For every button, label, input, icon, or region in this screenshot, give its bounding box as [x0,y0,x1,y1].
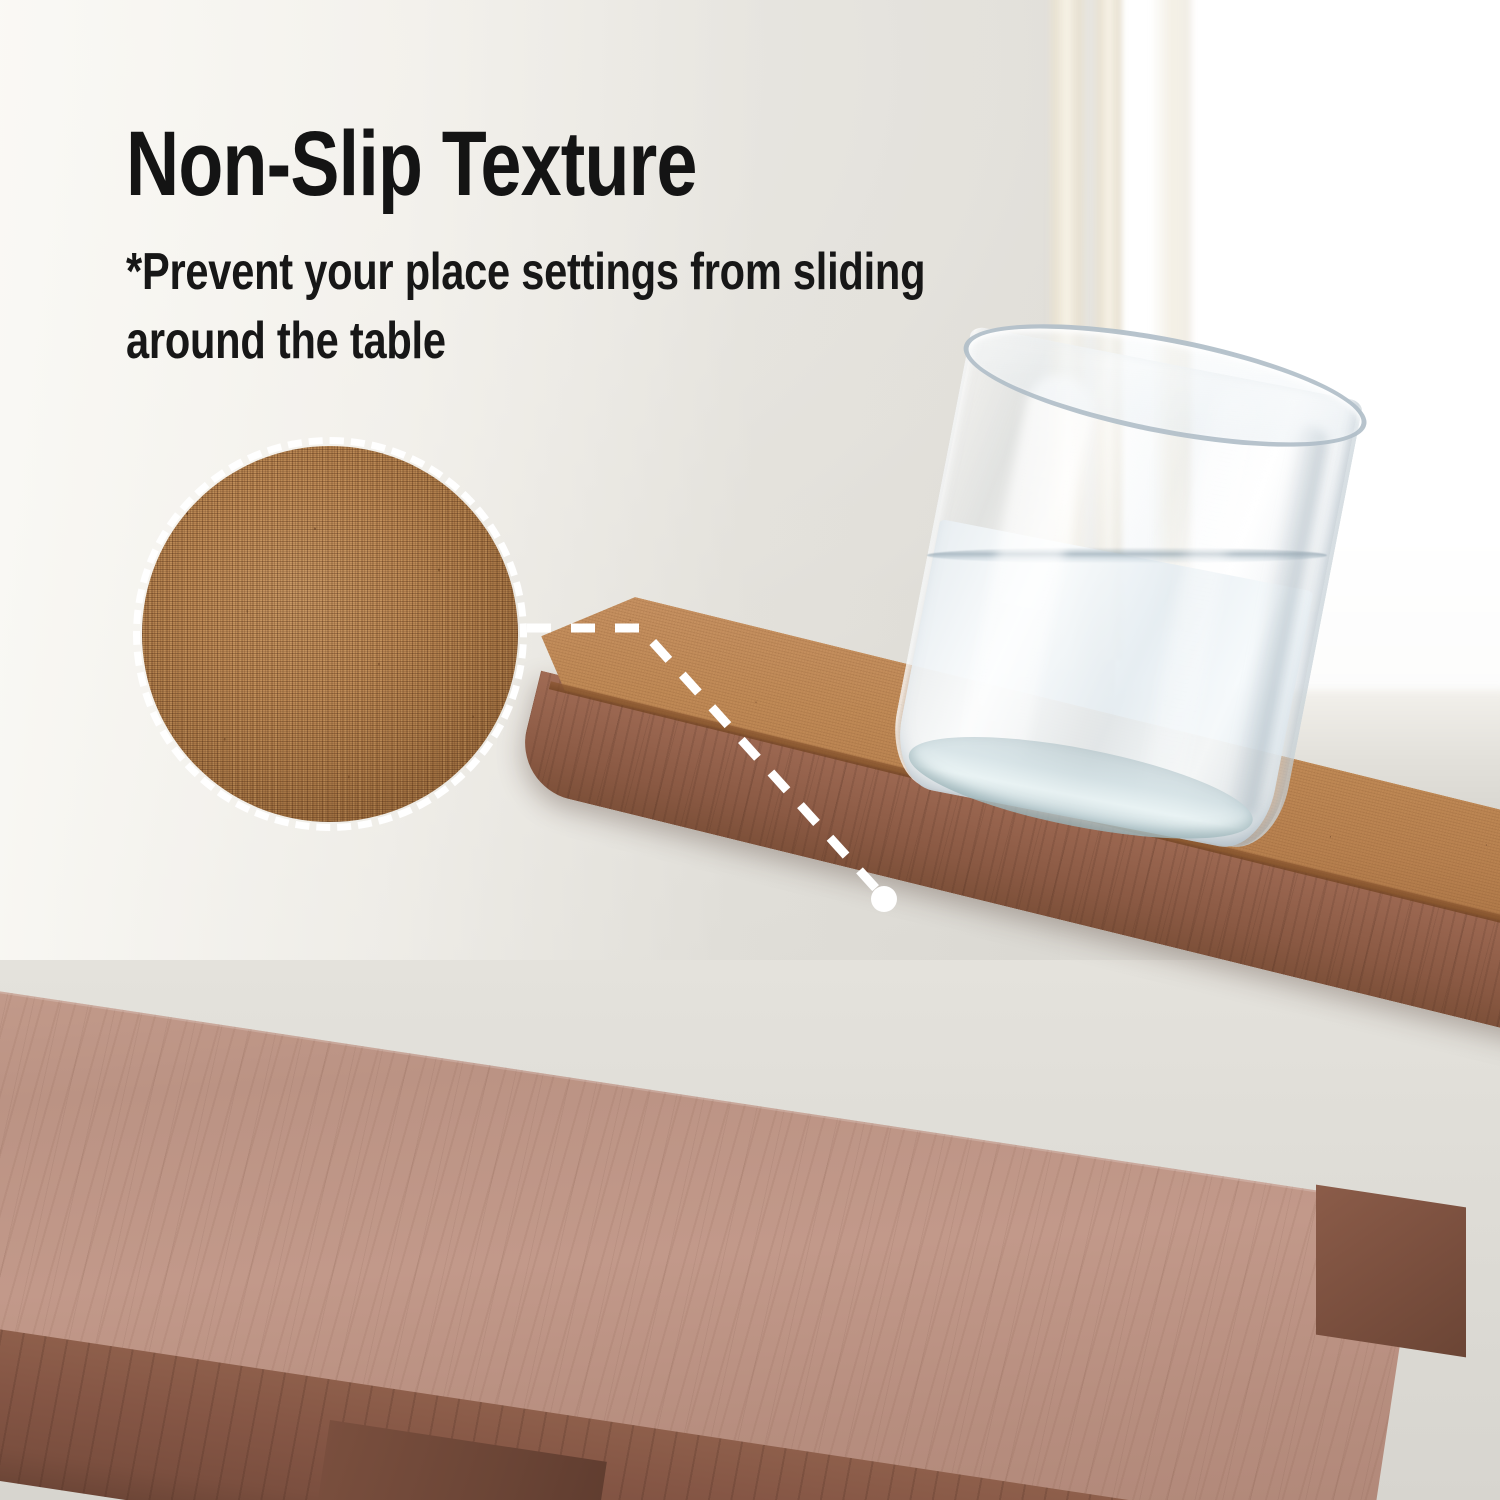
product-feature-image: Non-Slip Texture *Prevent your place set… [0,0,1500,1500]
magnifier-dashed-ring [133,437,527,831]
page-title: Non-Slip Texture [126,118,697,210]
water-surface-line [927,547,1327,563]
page-subtitle: *Prevent your place settings from slidin… [126,238,1070,375]
texture-magnifier-circle [133,437,527,831]
table-right-corner [1316,1185,1466,1358]
